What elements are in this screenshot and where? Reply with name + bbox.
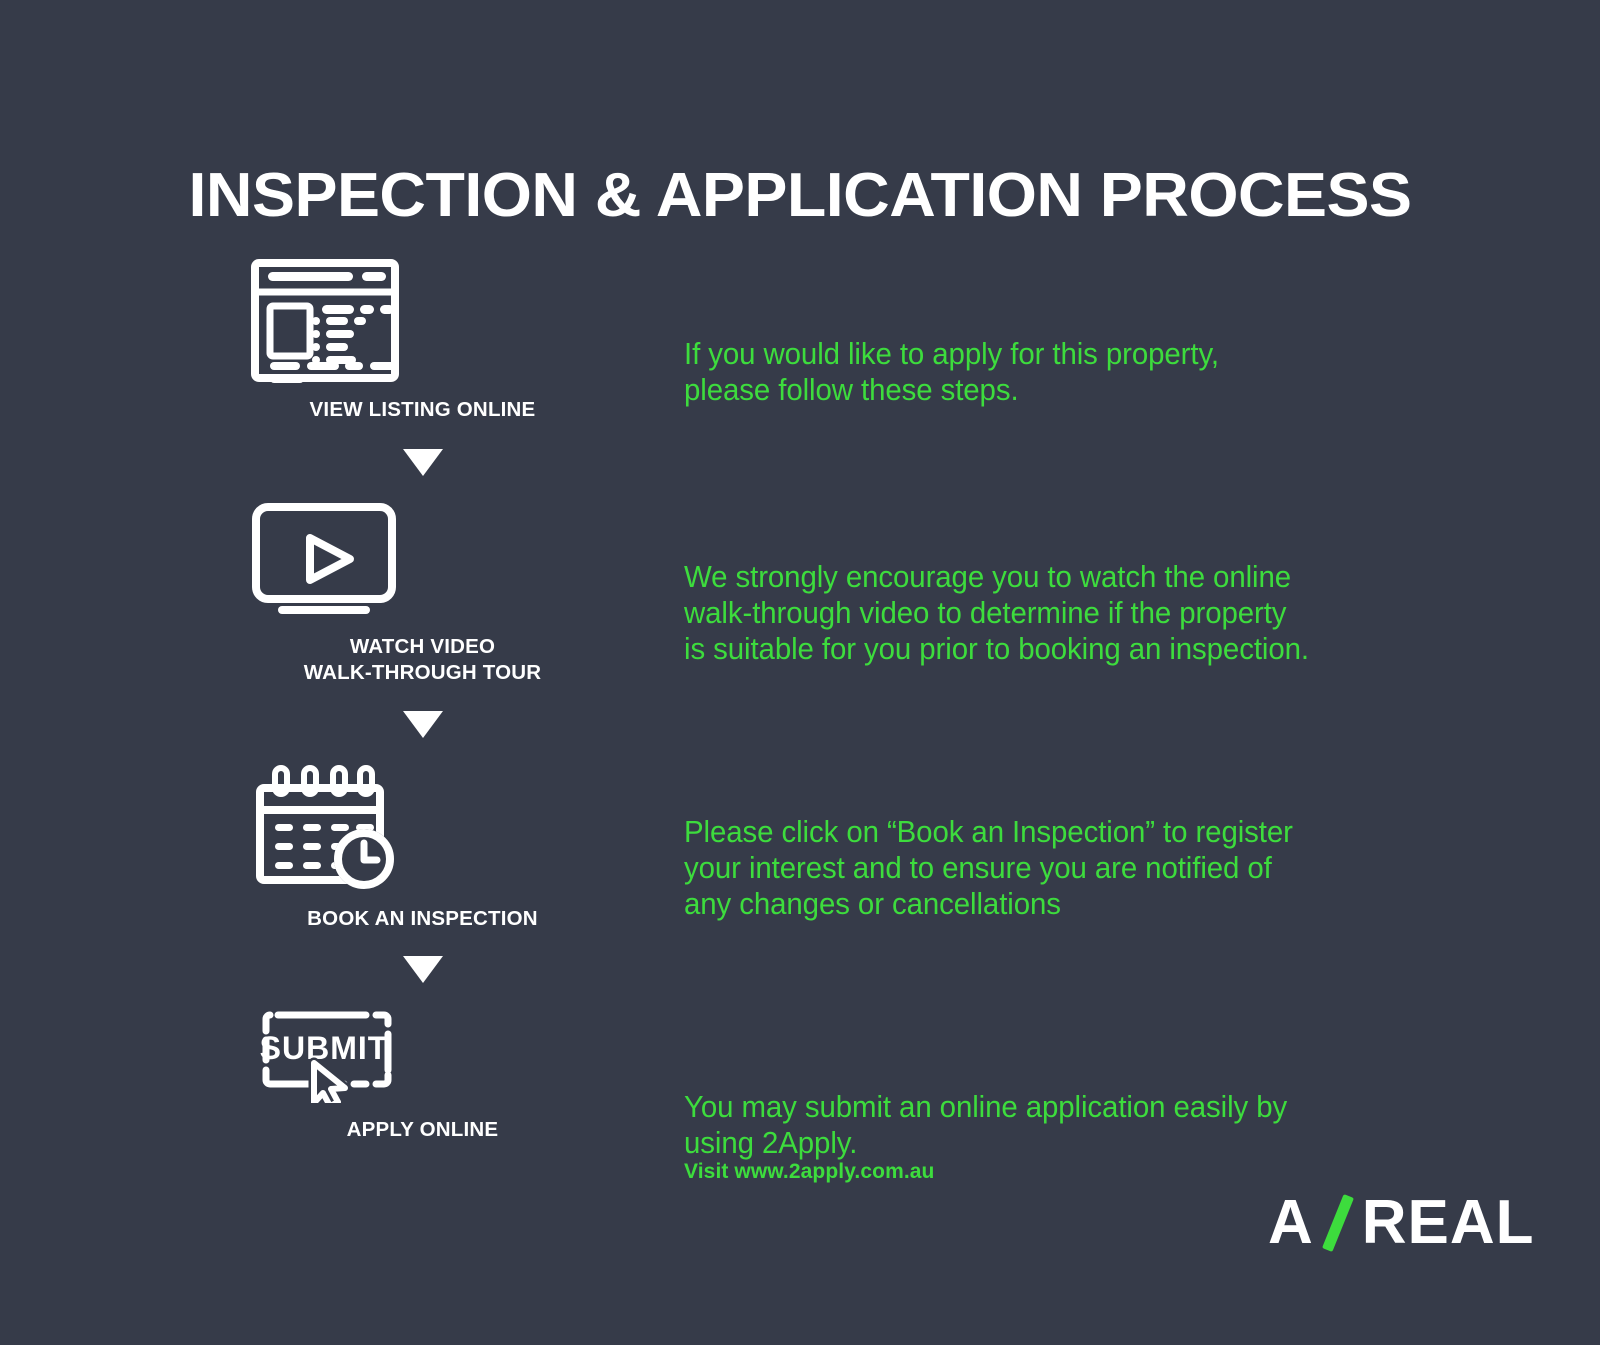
flow-arrow-1 bbox=[250, 449, 595, 476]
page-title: INSPECTION & APPLICATION PROCESS bbox=[0, 160, 1600, 231]
down-triangle-arrow-icon bbox=[403, 449, 443, 476]
step-book-inspection: BOOK AN INSPECTION bbox=[250, 762, 595, 932]
flow-arrow-3 bbox=[250, 956, 595, 983]
logo-text-real: REAL bbox=[1362, 1192, 1535, 1254]
note-watch-video: We strongly encourage you to watch the o… bbox=[684, 559, 1309, 668]
brand-logo: A REAL bbox=[1268, 1192, 1535, 1254]
step-view-listing-online: VIEW LISTING ONLINE bbox=[250, 258, 595, 423]
slash-icon bbox=[1316, 1192, 1360, 1254]
note-apply-online: You may submit an online application eas… bbox=[684, 1089, 1287, 1162]
process-steps-column: VIEW LISTING ONLINE WATCH VIDEO WALK-THR… bbox=[250, 258, 595, 1143]
down-triangle-arrow-icon bbox=[403, 956, 443, 983]
logo-text-a: A bbox=[1268, 1192, 1314, 1254]
flow-arrow-2 bbox=[250, 711, 595, 738]
video-play-monitor-icon bbox=[250, 502, 595, 620]
visit-url-text[interactable]: Visit www.2apply.com.au bbox=[684, 1160, 935, 1184]
browser-listing-icon bbox=[250, 258, 595, 383]
calendar-clock-icon bbox=[250, 762, 595, 892]
step-label-watch-video: WATCH VIDEO WALK-THROUGH TOUR bbox=[250, 634, 595, 686]
note-view-listing-online: If you would like to apply for this prop… bbox=[684, 336, 1219, 409]
step-label-view-listing-online: VIEW LISTING ONLINE bbox=[250, 397, 595, 423]
submit-button-cursor-icon: SUBMIT bbox=[250, 1007, 595, 1103]
step-watch-video: WATCH VIDEO WALK-THROUGH TOUR bbox=[250, 502, 595, 686]
note-book-inspection: Please click on “Book an Inspection” to … bbox=[684, 814, 1293, 923]
step-label-apply-online: APPLY ONLINE bbox=[250, 1117, 595, 1143]
step-apply-online: SUBMIT APPLY ONLINE bbox=[250, 1007, 595, 1143]
step-label-book-inspection: BOOK AN INSPECTION bbox=[250, 906, 595, 932]
svg-text:SUBMIT: SUBMIT bbox=[260, 1030, 389, 1066]
infographic-poster: INSPECTION & APPLICATION PROCESS bbox=[0, 0, 1600, 1345]
down-triangle-arrow-icon bbox=[403, 711, 443, 738]
